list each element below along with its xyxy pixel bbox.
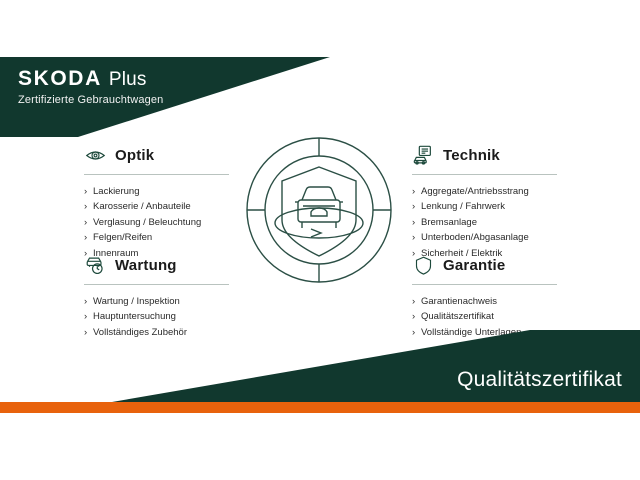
brand-tagline: Zertifizierte Gebrauchtwagen [18,94,318,106]
list-item: ›Garantienachweis [412,294,582,309]
section-divider [84,284,229,285]
list-item-label: Hauptuntersuchung [93,311,176,322]
list-item: ›Qualitätszertifikat [412,309,582,324]
section-title: Wartung [115,258,177,273]
chevron-right-icon: › [412,294,415,309]
chevron-right-icon: › [412,215,415,230]
eye-icon [84,144,106,166]
brand-suffix: Plus [109,70,147,89]
list-item-label: Unterboden/Abgasanlage [421,232,529,243]
chevron-right-icon: › [84,294,87,309]
section-header: Garantie [412,252,582,278]
section-header: Optik [84,142,254,168]
list-item: ›Hauptuntersuchung [84,309,254,324]
list-item-label: Aggregate/Antriebsstrang [421,186,529,197]
section-header: Wartung [84,252,254,278]
section-list: ›Wartung / Inspektion ›Hauptuntersuchung… [84,294,254,340]
list-item-label: Felgen/Reifen [93,232,152,243]
section-title: Garantie [443,258,505,273]
list-item-label: Vollständiges Zubehör [93,327,187,338]
list-item-label: Garantienachweis [421,296,497,307]
brand-lockup: SKODA Plus Zertifizierte Gebrauchtwagen [18,68,318,106]
list-item: ›Felgen/Reifen [84,230,254,245]
section-optik: Optik ›Lackierung ›Karosserie / Anbautei… [84,142,254,261]
brand-name: SKODA [18,68,102,89]
list-item: ›Wartung / Inspektion [84,294,254,309]
chevron-right-icon: › [84,325,87,340]
section-header: Technik [412,142,582,168]
list-item: ›Unterboden/Abgasanlage [412,230,582,245]
list-item-label: Lackierung [93,186,139,197]
list-item: ›Karosserie / Anbauteile [84,199,254,214]
chevron-right-icon: › [412,325,415,340]
certified-vehicle-emblem [243,134,395,286]
chevron-right-icon: › [84,309,87,324]
shield-icon [412,254,434,276]
section-list: ›Lackierung ›Karosserie / Anbauteile ›Ve… [84,184,254,261]
chevron-right-icon: › [84,199,87,214]
chevron-right-icon: › [412,199,415,214]
list-item: ›Verglasung / Beleuchtung [84,215,254,230]
section-divider [84,174,229,175]
section-title: Optik [115,148,154,163]
list-item: ›Bremsanlage [412,215,582,230]
section-wartung: Wartung ›Wartung / Inspektion ›Hauptunte… [84,252,254,340]
chevron-right-icon: › [412,230,415,245]
section-divider [412,174,557,175]
list-item: ›Aggregate/Antriebsstrang [412,184,582,199]
certificate-page: SKODA Plus Zertifizierte Gebrauchtwagen [0,0,640,480]
list-item-label: Lenkung / Fahrwerk [421,201,505,212]
list-item: ›Lenkung / Fahrwerk [412,199,582,214]
section-list: ›Aggregate/Antriebsstrang ›Lenkung / Fah… [412,184,582,261]
chevron-right-icon: › [412,309,415,324]
chevron-right-icon: › [84,230,87,245]
footer-title: Qualitätszertifikat [457,368,622,392]
list-item-label: Karosserie / Anbauteile [93,201,191,212]
list-item-label: Verglasung / Beleuchtung [93,217,201,228]
car-engine-document-icon [412,144,434,166]
section-divider [412,284,557,285]
car-service-clock-icon [84,254,106,276]
chevron-right-icon: › [84,184,87,199]
section-title: Technik [443,148,500,163]
chevron-right-icon: › [84,215,87,230]
section-technik: Technik ›Aggregate/Antriebsstrang ›Lenku… [412,142,582,261]
list-item-label: Wartung / Inspektion [93,296,180,307]
brand-title-row: SKODA Plus [18,68,318,89]
list-item: ›Lackierung [84,184,254,199]
list-item-label: Qualitätszertifikat [421,311,494,322]
list-item-label: Bremsanlage [421,217,477,228]
section-garantie: Garantie ›Garantienachweis ›Qualitätszer… [412,252,582,340]
footer-orange-bar [0,402,640,413]
list-item: ›Vollständiges Zubehör [84,325,254,340]
chevron-right-icon: › [412,184,415,199]
